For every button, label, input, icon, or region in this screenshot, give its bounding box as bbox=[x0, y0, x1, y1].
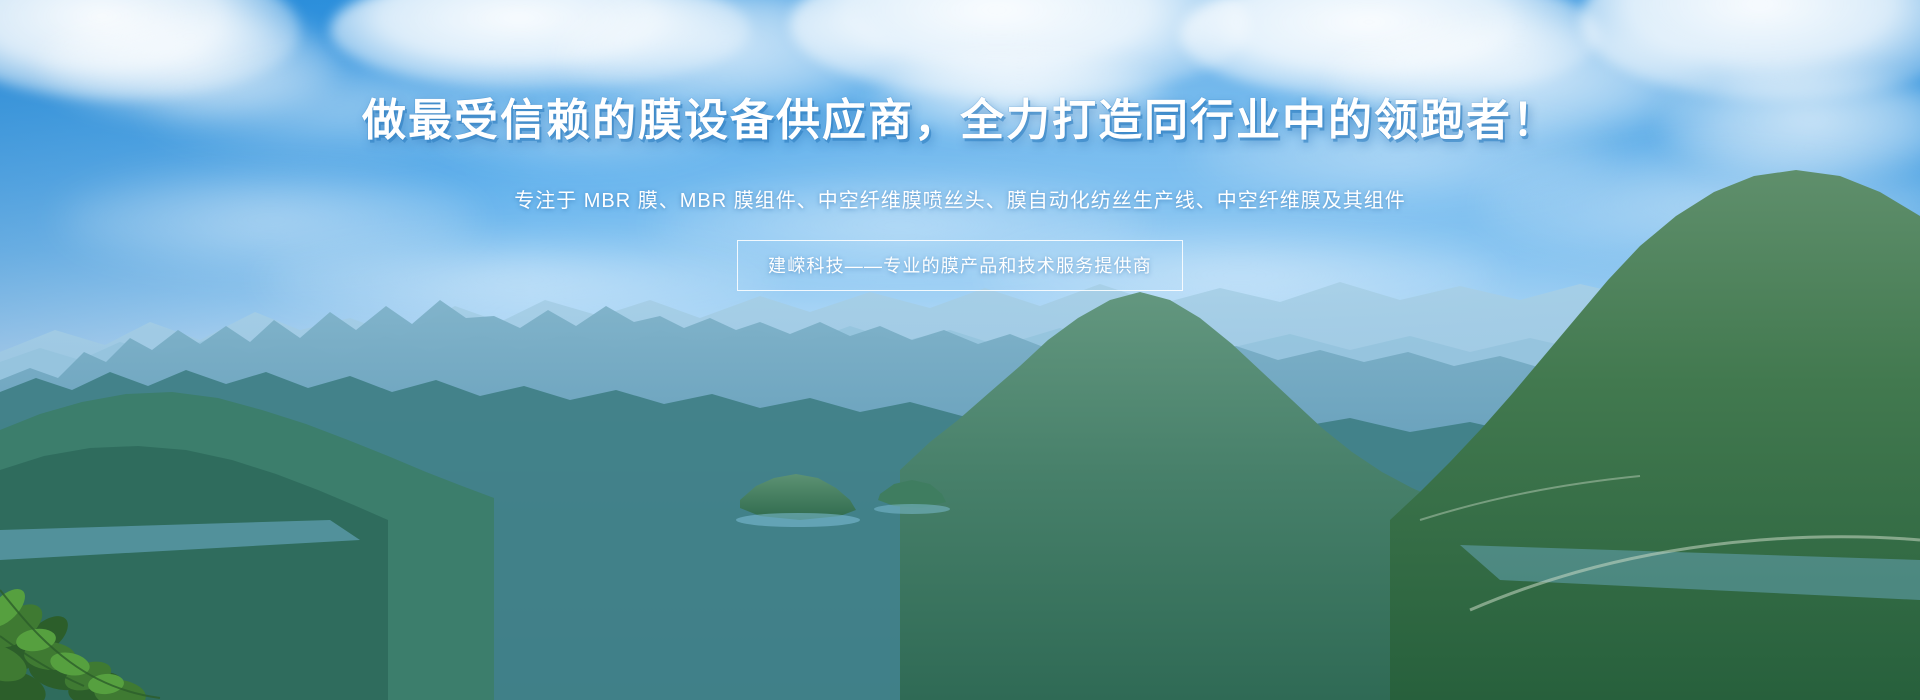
banner-tagline-text: 建嵘科技——专业的膜产品和技术服务提供商 bbox=[768, 256, 1152, 276]
banner-subtitle: 专注于 MBR 膜、MBR 膜组件、中空纤维膜喷丝头、膜自动化纺丝生产线、中空纤… bbox=[0, 186, 1920, 216]
hero-banner: 做最受信赖的膜设备供应商，全力打造同行业中的领跑者！ 专注于 MBR 膜、MBR… bbox=[0, 0, 1920, 700]
banner-tagline-wrapper: 建嵘科技——专业的膜产品和技术服务提供商 bbox=[0, 240, 1920, 291]
banner-content: 做最受信赖的膜设备供应商，全力打造同行业中的领跑者！ 专注于 MBR 膜、MBR… bbox=[0, 0, 1920, 700]
banner-headline: 做最受信赖的膜设备供应商，全力打造同行业中的领跑者！ bbox=[0, 96, 1920, 147]
banner-tagline-box: 建嵘科技——专业的膜产品和技术服务提供商 bbox=[737, 240, 1183, 291]
